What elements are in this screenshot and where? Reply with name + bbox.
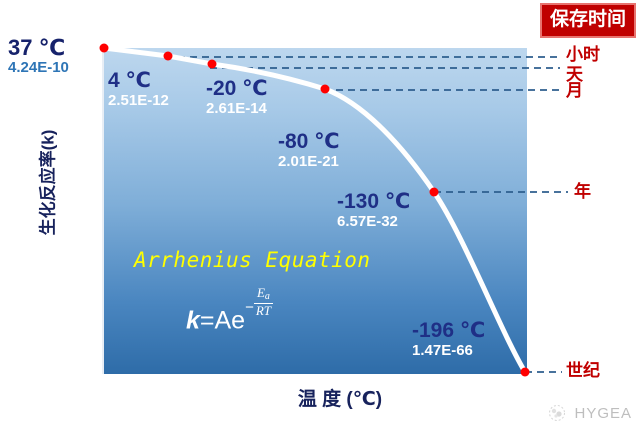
equation-title: Arrhenius Equation	[134, 248, 371, 272]
equation-ae: =Ae	[200, 307, 245, 335]
time-label-month: 月	[566, 82, 583, 99]
watermark: HYGEA	[546, 404, 632, 422]
equation-formula: k=Ae−EaRT	[186, 286, 273, 336]
annotation-37c-rate: 4.24E-10	[8, 60, 69, 76]
annotation-37c: 37 ℃ 4.24E-10	[8, 36, 69, 76]
chart-canvas: 保存时间 小时 天 月 年 世纪 生化反应率(k) 温 度 (℃) 37 ℃ 4…	[0, 0, 640, 427]
time-label-hour: 小时	[566, 46, 600, 63]
watermark-text: HYGEA	[574, 405, 632, 422]
time-label-year: 年	[574, 183, 591, 200]
annotation-minus130c: -130 ℃ 6.57E-32	[337, 191, 410, 230]
annotation-37c-temp: 37 ℃	[8, 36, 69, 59]
equation-ea-subscript: a	[265, 291, 270, 302]
equation-minus-sign: −	[245, 299, 254, 316]
time-label-century: 世纪	[566, 362, 600, 379]
equation-fraction: EaRT	[254, 286, 273, 317]
y-axis-title: 生化反应率(k)	[34, 103, 59, 263]
annotation-minus20c-temp: -20 ℃	[206, 78, 268, 100]
annotation-4c-rate: 2.51E-12	[108, 93, 169, 109]
x-axis-title: 温 度 (℃)	[190, 384, 490, 411]
annotation-minus20c: -20 ℃ 2.61E-14	[206, 78, 268, 117]
equation-k: k	[186, 307, 200, 335]
annotation-minus20c-rate: 2.61E-14	[206, 101, 268, 117]
storage-time-banner: 保存时间	[540, 3, 636, 38]
annotation-minus130c-rate: 6.57E-32	[337, 214, 410, 230]
annotation-minus196c-temp: -196 ℃	[412, 320, 485, 342]
annotation-minus196c: -196 ℃ 1.47E-66	[412, 320, 485, 359]
equation-ea: E	[257, 285, 265, 300]
annotation-4c: 4 ℃ 2.51E-12	[108, 70, 169, 109]
annotation-minus80c-temp: -80 ℃	[278, 131, 340, 153]
equation-numerator: Ea	[254, 286, 273, 304]
equation-denominator: RT	[254, 304, 273, 318]
annotation-4c-temp: 4 ℃	[108, 70, 169, 92]
hygea-logo-icon	[546, 404, 568, 422]
equation-exponent: EaRT	[254, 286, 273, 317]
annotation-minus196c-rate: 1.47E-66	[412, 343, 485, 359]
annotation-minus80c-rate: 2.01E-21	[278, 154, 340, 170]
annotation-minus130c-temp: -130 ℃	[337, 191, 410, 213]
annotation-minus80c: -80 ℃ 2.01E-21	[278, 131, 340, 170]
